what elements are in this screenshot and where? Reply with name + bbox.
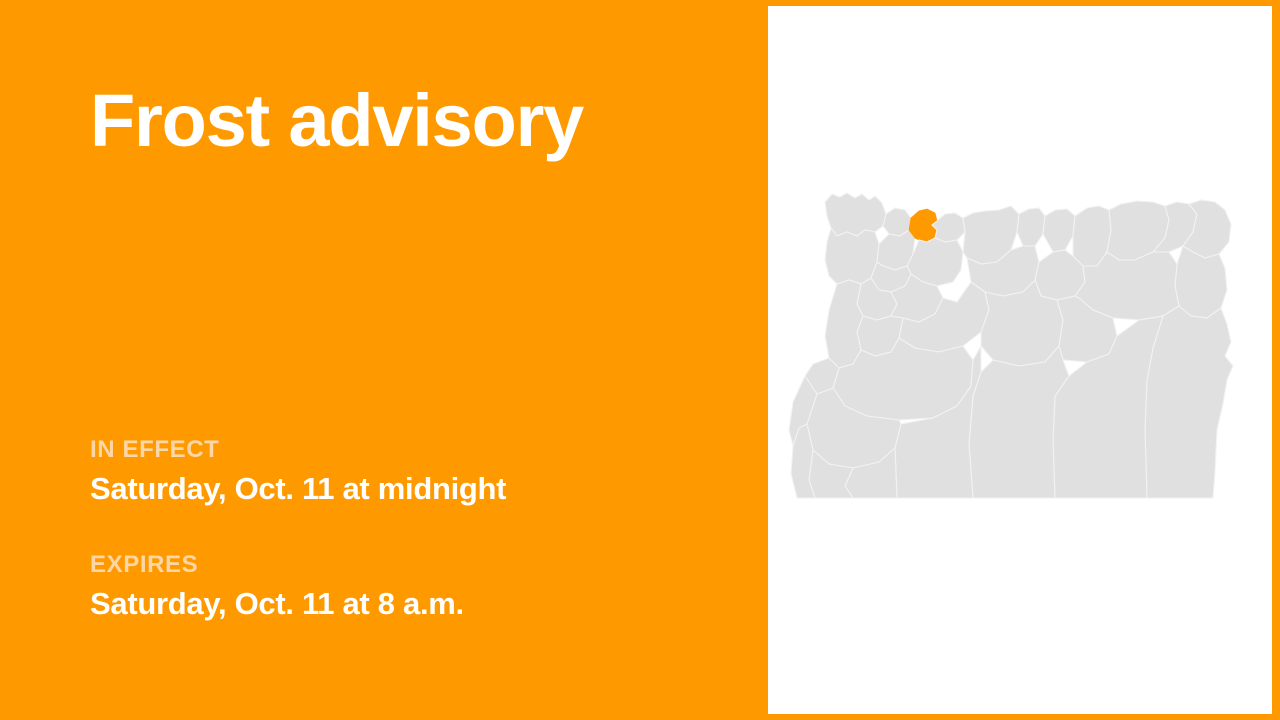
page-title: Frost advisory <box>90 84 583 158</box>
county-malheur <box>1145 306 1233 498</box>
county-clatsop <box>825 193 886 236</box>
expires-block: EXPIRES Saturday, Oct. 11 at 8 a.m. <box>90 553 464 621</box>
frost-advisory-graphic: Frost advisory IN EFFECT Saturday, Oct. … <box>0 0 1280 720</box>
in-effect-value: Saturday, Oct. 11 at midnight <box>90 472 506 506</box>
in-effect-block: IN EFFECT Saturday, Oct. 11 at midnight <box>90 438 506 506</box>
expires-label: EXPIRES <box>90 553 464 577</box>
county-lincoln <box>825 280 863 368</box>
county-lake <box>969 346 1069 498</box>
county-baker <box>1175 246 1227 318</box>
alert-info-panel: Frost advisory IN EFFECT Saturday, Oct. … <box>0 0 768 720</box>
county-gilliam <box>1043 209 1075 252</box>
in-effect-label: IN EFFECT <box>90 438 506 462</box>
expires-value: Saturday, Oct. 11 at 8 a.m. <box>90 587 464 621</box>
county-hood-river <box>932 213 965 242</box>
oregon-county-map <box>787 180 1253 540</box>
map-card <box>768 6 1272 714</box>
county-sherman <box>1017 208 1045 246</box>
county-tillamook <box>825 228 879 284</box>
county-group <box>789 193 1233 498</box>
map-panel <box>768 0 1280 720</box>
